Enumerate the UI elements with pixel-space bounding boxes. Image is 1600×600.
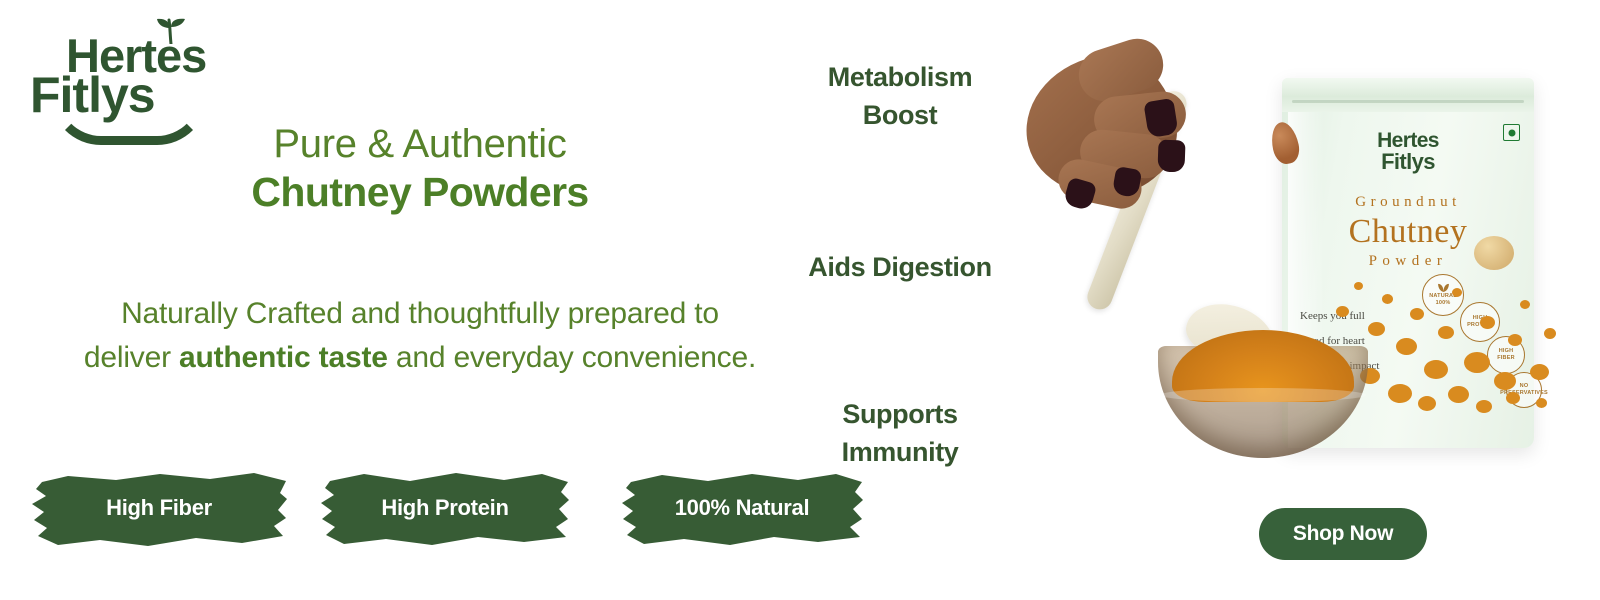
headline-block: Pure & Authentic Chutney Powders	[90, 122, 750, 217]
product-photo-area: Hertes Fitlys Groundnut Chutney Powder K…	[1000, 0, 1600, 600]
pouch-logo-line1: Hertes	[1282, 130, 1534, 151]
feature-badge-label: High Fiber	[28, 462, 290, 554]
benefits-column: Metabolism Boost Aids Digestion Supports…	[790, 48, 1010, 448]
pouch-top-seal	[1282, 78, 1534, 112]
hand-holding-spoon	[1018, 22, 1213, 222]
feature-badge-label: High Protein	[318, 462, 572, 554]
brand-logo[interactable]: Hertes Fitlys	[28, 14, 243, 129]
pouch-title-top: Groundnut	[1282, 194, 1534, 211]
pouch-logo-line2: Fitlys	[1282, 151, 1534, 173]
feature-badge-100-natural[interactable]: 100% Natural	[618, 462, 866, 554]
fingernail	[1143, 98, 1178, 138]
benefit-metabolism-boost: Metabolism Boost	[790, 58, 1010, 135]
sprout-icon	[156, 18, 186, 44]
peanut-decoration	[1474, 236, 1514, 270]
powder-bowl	[1158, 330, 1368, 458]
logo-text-line2: Fitlys	[30, 70, 155, 120]
pouch-brand-logo: Hertes Fitlys	[1282, 130, 1534, 174]
description-emphasis: authentic taste	[179, 341, 388, 374]
benefit-supports-immunity: Supports Immunity	[790, 395, 1010, 472]
description-paragraph: Naturally Crafted and thoughtfully prepa…	[78, 292, 762, 381]
feature-badge-high-protein[interactable]: High Protein	[318, 462, 572, 554]
feature-badge-high-fiber[interactable]: High Fiber	[28, 462, 290, 554]
shop-now-button[interactable]: Shop Now	[1259, 508, 1427, 560]
fingernail	[1157, 140, 1185, 173]
headline-line-2: Chutney Powders	[90, 167, 750, 217]
feature-badge-label: 100% Natural	[618, 462, 866, 554]
description-part-2: and everyday convenience.	[388, 341, 756, 374]
feature-badge-group: High Fiber High Protein 100% Natural	[0, 462, 900, 562]
headline-line-1: Pure & Authentic	[90, 122, 750, 167]
bowl-rim	[1160, 388, 1366, 402]
benefit-aids-digestion: Aids Digestion	[790, 248, 1010, 286]
promo-banner: Hertes Fitlys Pure & Authentic Chutney P…	[0, 0, 1600, 600]
